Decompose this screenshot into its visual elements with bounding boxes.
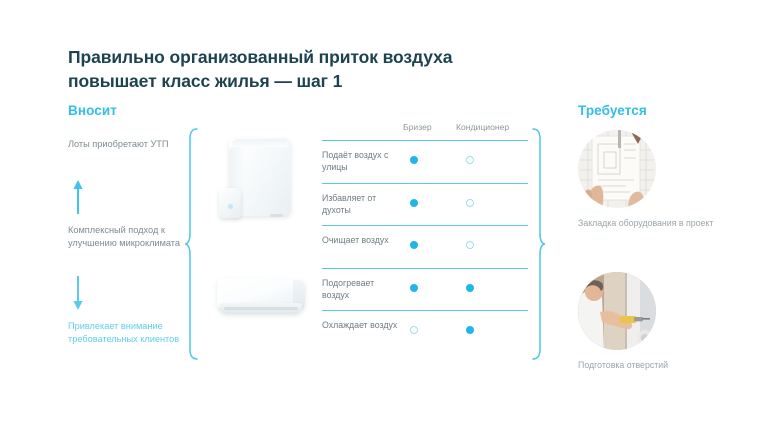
conditioner-indicator	[466, 241, 474, 249]
page-title: Правильно организованный приток воздуха …	[68, 45, 488, 93]
column-header-breezer: Бризер	[403, 122, 432, 132]
right-column-heading: Требуется	[578, 103, 647, 118]
breezer-indicator	[410, 199, 418, 207]
left-curly-brace	[184, 128, 198, 360]
table-row: Охлаждает воздух	[322, 310, 528, 353]
comparison-table: Бризер Кондиционер Подаёт воздух с улицы…	[322, 122, 528, 353]
feature-label: Подогревает воздух	[322, 277, 400, 302]
table-row: Подаёт воздух с улицы	[322, 140, 528, 183]
requirements-column: Закладка оборудования в проект	[578, 130, 738, 372]
air-conditioner-product-image	[217, 278, 305, 322]
arrow-down-icon	[73, 276, 83, 310]
table-row: Избавляет от духоты	[322, 183, 528, 226]
feature-label: Охлаждает воздух	[322, 319, 400, 331]
benefit-item-2: Комплексный подход к улучшению микроклим…	[68, 224, 188, 251]
feature-label: Подаёт воздух с улицы	[322, 149, 400, 174]
breezer-indicator	[410, 284, 418, 292]
breezer-indicator	[410, 326, 418, 334]
requirement-item: Подготовка отверстий	[578, 272, 738, 372]
conditioner-indicator	[466, 326, 474, 334]
feature-label: Избавляет от духоты	[322, 192, 400, 217]
benefit-item-1: Лоты приобретают УТП	[68, 138, 169, 151]
conditioner-indicator	[466, 156, 474, 164]
requirement-caption: Закладка оборудования в проект	[578, 217, 728, 230]
left-column-heading: Вносит	[68, 103, 117, 118]
products-illustrations	[205, 130, 315, 362]
feature-label: Очищает воздух	[322, 234, 400, 246]
wall-drilling-photo	[578, 272, 656, 350]
right-curly-brace	[532, 128, 546, 360]
arrow-up-icon	[73, 180, 83, 214]
slide-canvas: Правильно организованный приток воздуха …	[0, 0, 760, 427]
breezer-indicator	[410, 241, 418, 249]
breezer-product-image	[219, 138, 291, 222]
conditioner-indicator	[466, 199, 474, 207]
table-row: Очищает воздух	[322, 225, 528, 268]
requirement-caption: Подготовка отверстий	[578, 359, 728, 372]
blueprint-drawings-photo	[578, 130, 656, 208]
benefit-item-3: Привлекает внимание требовательных клиен…	[68, 320, 188, 347]
conditioner-indicator	[466, 284, 474, 292]
breezer-indicator	[410, 156, 418, 164]
requirement-item: Закладка оборудования в проект	[578, 130, 738, 230]
table-row: Подогревает воздух	[322, 268, 528, 311]
column-header-conditioner: Кондиционер	[456, 122, 509, 132]
table-header-row: Бризер Кондиционер	[322, 122, 528, 140]
